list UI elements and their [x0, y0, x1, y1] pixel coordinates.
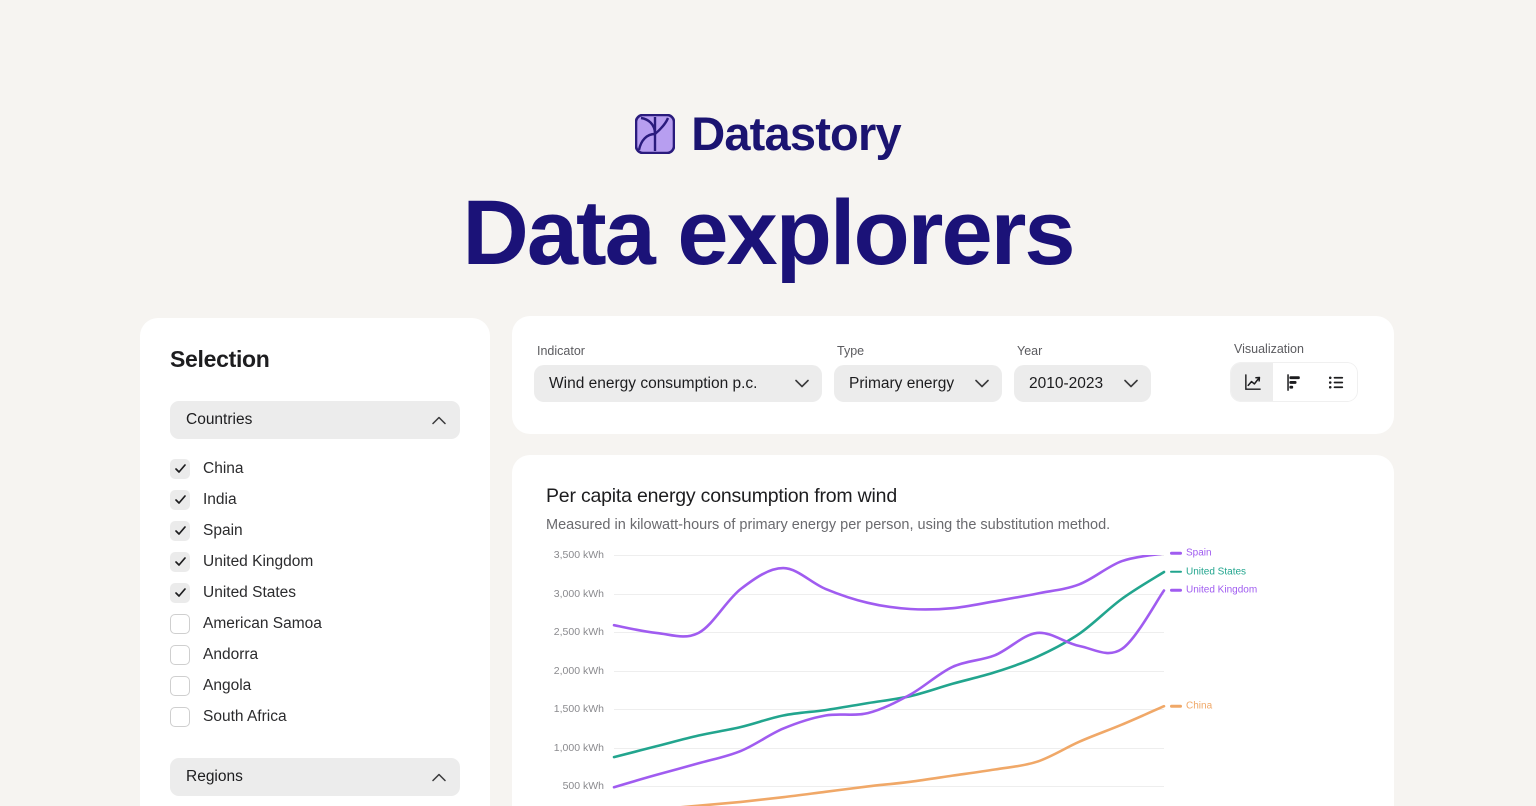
list-item[interactable]: Andorra [170, 639, 460, 670]
checkbox-checked[interactable] [170, 490, 190, 510]
line-chart-icon [1243, 373, 1262, 392]
list-item[interactable]: American Samoa [170, 608, 460, 639]
type-select[interactable]: Primary energy [834, 365, 1002, 402]
brand-header: Datastory [0, 110, 1536, 157]
page-root: Datastory Data explorers Selection Count… [0, 0, 1536, 806]
type-value: Primary energy [849, 375, 954, 393]
sidebar-group-countries[interactable]: Countries [170, 401, 460, 439]
chart-series-label: China [1186, 701, 1212, 712]
chart-series-label: United States [1186, 566, 1246, 577]
list-item-label: United Kingdom [203, 553, 313, 571]
list-item-label: Spain [203, 522, 243, 540]
check-icon [174, 524, 187, 537]
bar-chart-icon [1285, 373, 1304, 392]
list-item-label: Angola [203, 677, 251, 695]
indicator-label: Indicator [534, 344, 822, 358]
checkbox-checked[interactable] [170, 459, 190, 479]
indicator-value: Wind energy consumption p.c. [549, 375, 758, 393]
visualization-toggle-group [1231, 363, 1357, 401]
chart-panel: Per capita energy consumption from wind … [512, 455, 1394, 806]
page-title: Data explorers [0, 185, 1536, 282]
chevron-down-icon [975, 379, 989, 388]
chart-line-united-states [614, 572, 1164, 757]
chart-line-united-kingdom [614, 591, 1164, 788]
checkbox-unchecked[interactable] [170, 645, 190, 665]
chart-title: Per capita energy consumption from wind [546, 485, 1360, 508]
checkbox-unchecked[interactable] [170, 614, 190, 634]
selection-panel: Selection Countries China India [140, 318, 490, 806]
check-icon [174, 555, 187, 568]
checkbox-unchecked[interactable] [170, 676, 190, 696]
brand-name: Datastory [691, 110, 901, 157]
list-item-label: South Africa [203, 708, 287, 726]
list-item[interactable]: Spain [170, 515, 460, 546]
viz-list-button[interactable] [1315, 363, 1357, 401]
chart-plot-area: 3,500 kWh3,000 kWh2,500 kWh2,000 kWh1,50… [546, 555, 1360, 806]
chart-subtitle: Measured in kilowatt-hours of primary en… [546, 517, 1360, 533]
type-label: Type [834, 344, 1002, 358]
chevron-up-icon [432, 416, 446, 425]
sidebar-group-regions-label: Regions [186, 768, 243, 786]
list-item-label: China [203, 460, 244, 478]
list-icon [1327, 373, 1346, 392]
year-label: Year [1014, 344, 1151, 358]
chart-series-label: United Kingdom [1186, 585, 1257, 596]
list-item-label: United States [203, 584, 296, 602]
checkbox-checked[interactable] [170, 583, 190, 603]
list-item[interactable]: United Kingdom [170, 546, 460, 577]
chevron-down-icon [1124, 379, 1138, 388]
type-control: Type Primary energy [834, 344, 1002, 402]
checkbox-checked[interactable] [170, 552, 190, 572]
check-icon [174, 462, 187, 475]
list-item[interactable]: China [170, 453, 460, 484]
list-item[interactable]: United States [170, 577, 460, 608]
year-select[interactable]: 2010-2023 [1014, 365, 1151, 402]
list-item-label: India [203, 491, 237, 509]
list-item[interactable]: Angola [170, 670, 460, 701]
visualization-control: Visualization [1231, 342, 1357, 401]
selection-title: Selection [170, 346, 460, 373]
visualization-label: Visualization [1231, 342, 1357, 356]
indicator-select[interactable]: Wind energy consumption p.c. [534, 365, 822, 402]
year-control: Year 2010-2023 [1014, 344, 1151, 402]
chevron-down-icon [795, 379, 809, 388]
list-item[interactable]: South Africa [170, 701, 460, 732]
chart-series-label: Spain [1186, 548, 1212, 559]
sidebar-group-countries-label: Countries [186, 411, 252, 429]
viz-bar-chart-button[interactable] [1273, 363, 1315, 401]
indicator-control: Indicator Wind energy consumption p.c. [534, 344, 822, 402]
list-item-label: Andorra [203, 646, 258, 664]
check-icon [174, 586, 187, 599]
checkbox-unchecked[interactable] [170, 707, 190, 727]
country-option-list: China India Spain United Kingdom [170, 453, 460, 732]
viz-line-chart-button[interactable] [1231, 363, 1273, 401]
list-item-label: American Samoa [203, 615, 322, 633]
sidebar-group-regions[interactable]: Regions [170, 758, 460, 796]
year-value: 2010-2023 [1029, 375, 1103, 393]
datastory-leaf-logo-icon [635, 114, 675, 154]
list-item[interactable]: India [170, 484, 460, 515]
chevron-up-icon [432, 773, 446, 782]
check-icon [174, 493, 187, 506]
chart-line-china [614, 706, 1164, 806]
checkbox-checked[interactable] [170, 521, 190, 541]
chart-line-spain [614, 555, 1164, 636]
